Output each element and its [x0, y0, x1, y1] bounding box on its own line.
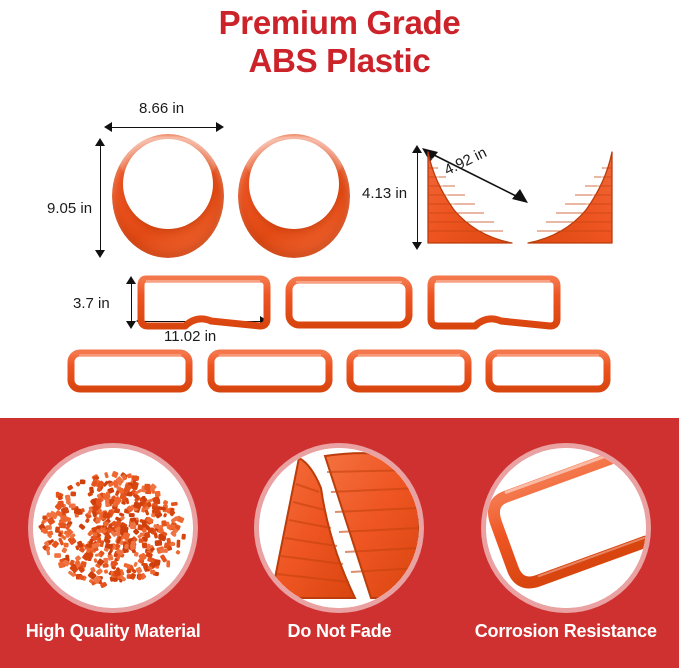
dimension-label-vent-height: 4.13 in — [362, 185, 407, 202]
headlight-ring-left — [112, 134, 224, 258]
feature-image-trim-frame-closeup — [486, 448, 646, 608]
window-trim-2 — [206, 348, 334, 394]
window-trim-4 — [484, 348, 612, 394]
door-trim-3 — [427, 275, 561, 331]
feature-image-ribbed-vent-closeup — [259, 448, 419, 608]
window-trim-1 — [66, 348, 194, 394]
dimension-label-ring-width: 8.66 in — [139, 100, 184, 117]
page-title: Premium Grade ABS Plastic — [0, 4, 679, 80]
title-line-2: ABS Plastic — [0, 42, 679, 80]
dimension-label-trim-height: 3.7 in — [73, 295, 110, 312]
product-dimension-diagram: 8.66 in 9.05 in 4.92 in — [0, 90, 679, 418]
feature-label-high-quality-material: High Quality Material — [0, 621, 226, 642]
feature-label-corrosion-resistance: Corrosion Resistance — [453, 621, 679, 642]
title-line-1: Premium Grade — [0, 4, 679, 42]
fender-vent-left — [424, 148, 516, 248]
feature-corrosion-resistance: Corrosion Resistance — [453, 418, 679, 668]
headlight-ring-right — [238, 134, 350, 258]
product-infographic: Premium Grade ABS Plastic 8.66 in 9.05 i… — [0, 0, 679, 668]
dimension-label-ring-height: 9.05 in — [47, 200, 92, 217]
dimension-arrow-ring-height — [95, 138, 106, 258]
window-trim-3 — [345, 348, 473, 394]
feature-panel: High Quality Material — [0, 418, 679, 668]
dimension-arrow-ring-width — [104, 122, 224, 133]
door-trim-1 — [137, 275, 271, 331]
feature-image-abs-plastic-pellets — [33, 448, 193, 608]
feature-do-not-fade: Do Not Fade — [226, 418, 452, 668]
feature-label-do-not-fade: Do Not Fade — [226, 621, 452, 642]
door-trim-2 — [284, 275, 414, 331]
fender-vent-right — [524, 148, 616, 248]
dimension-arrow-vent-height — [412, 145, 423, 250]
feature-high-quality-material: High Quality Material — [0, 418, 226, 668]
